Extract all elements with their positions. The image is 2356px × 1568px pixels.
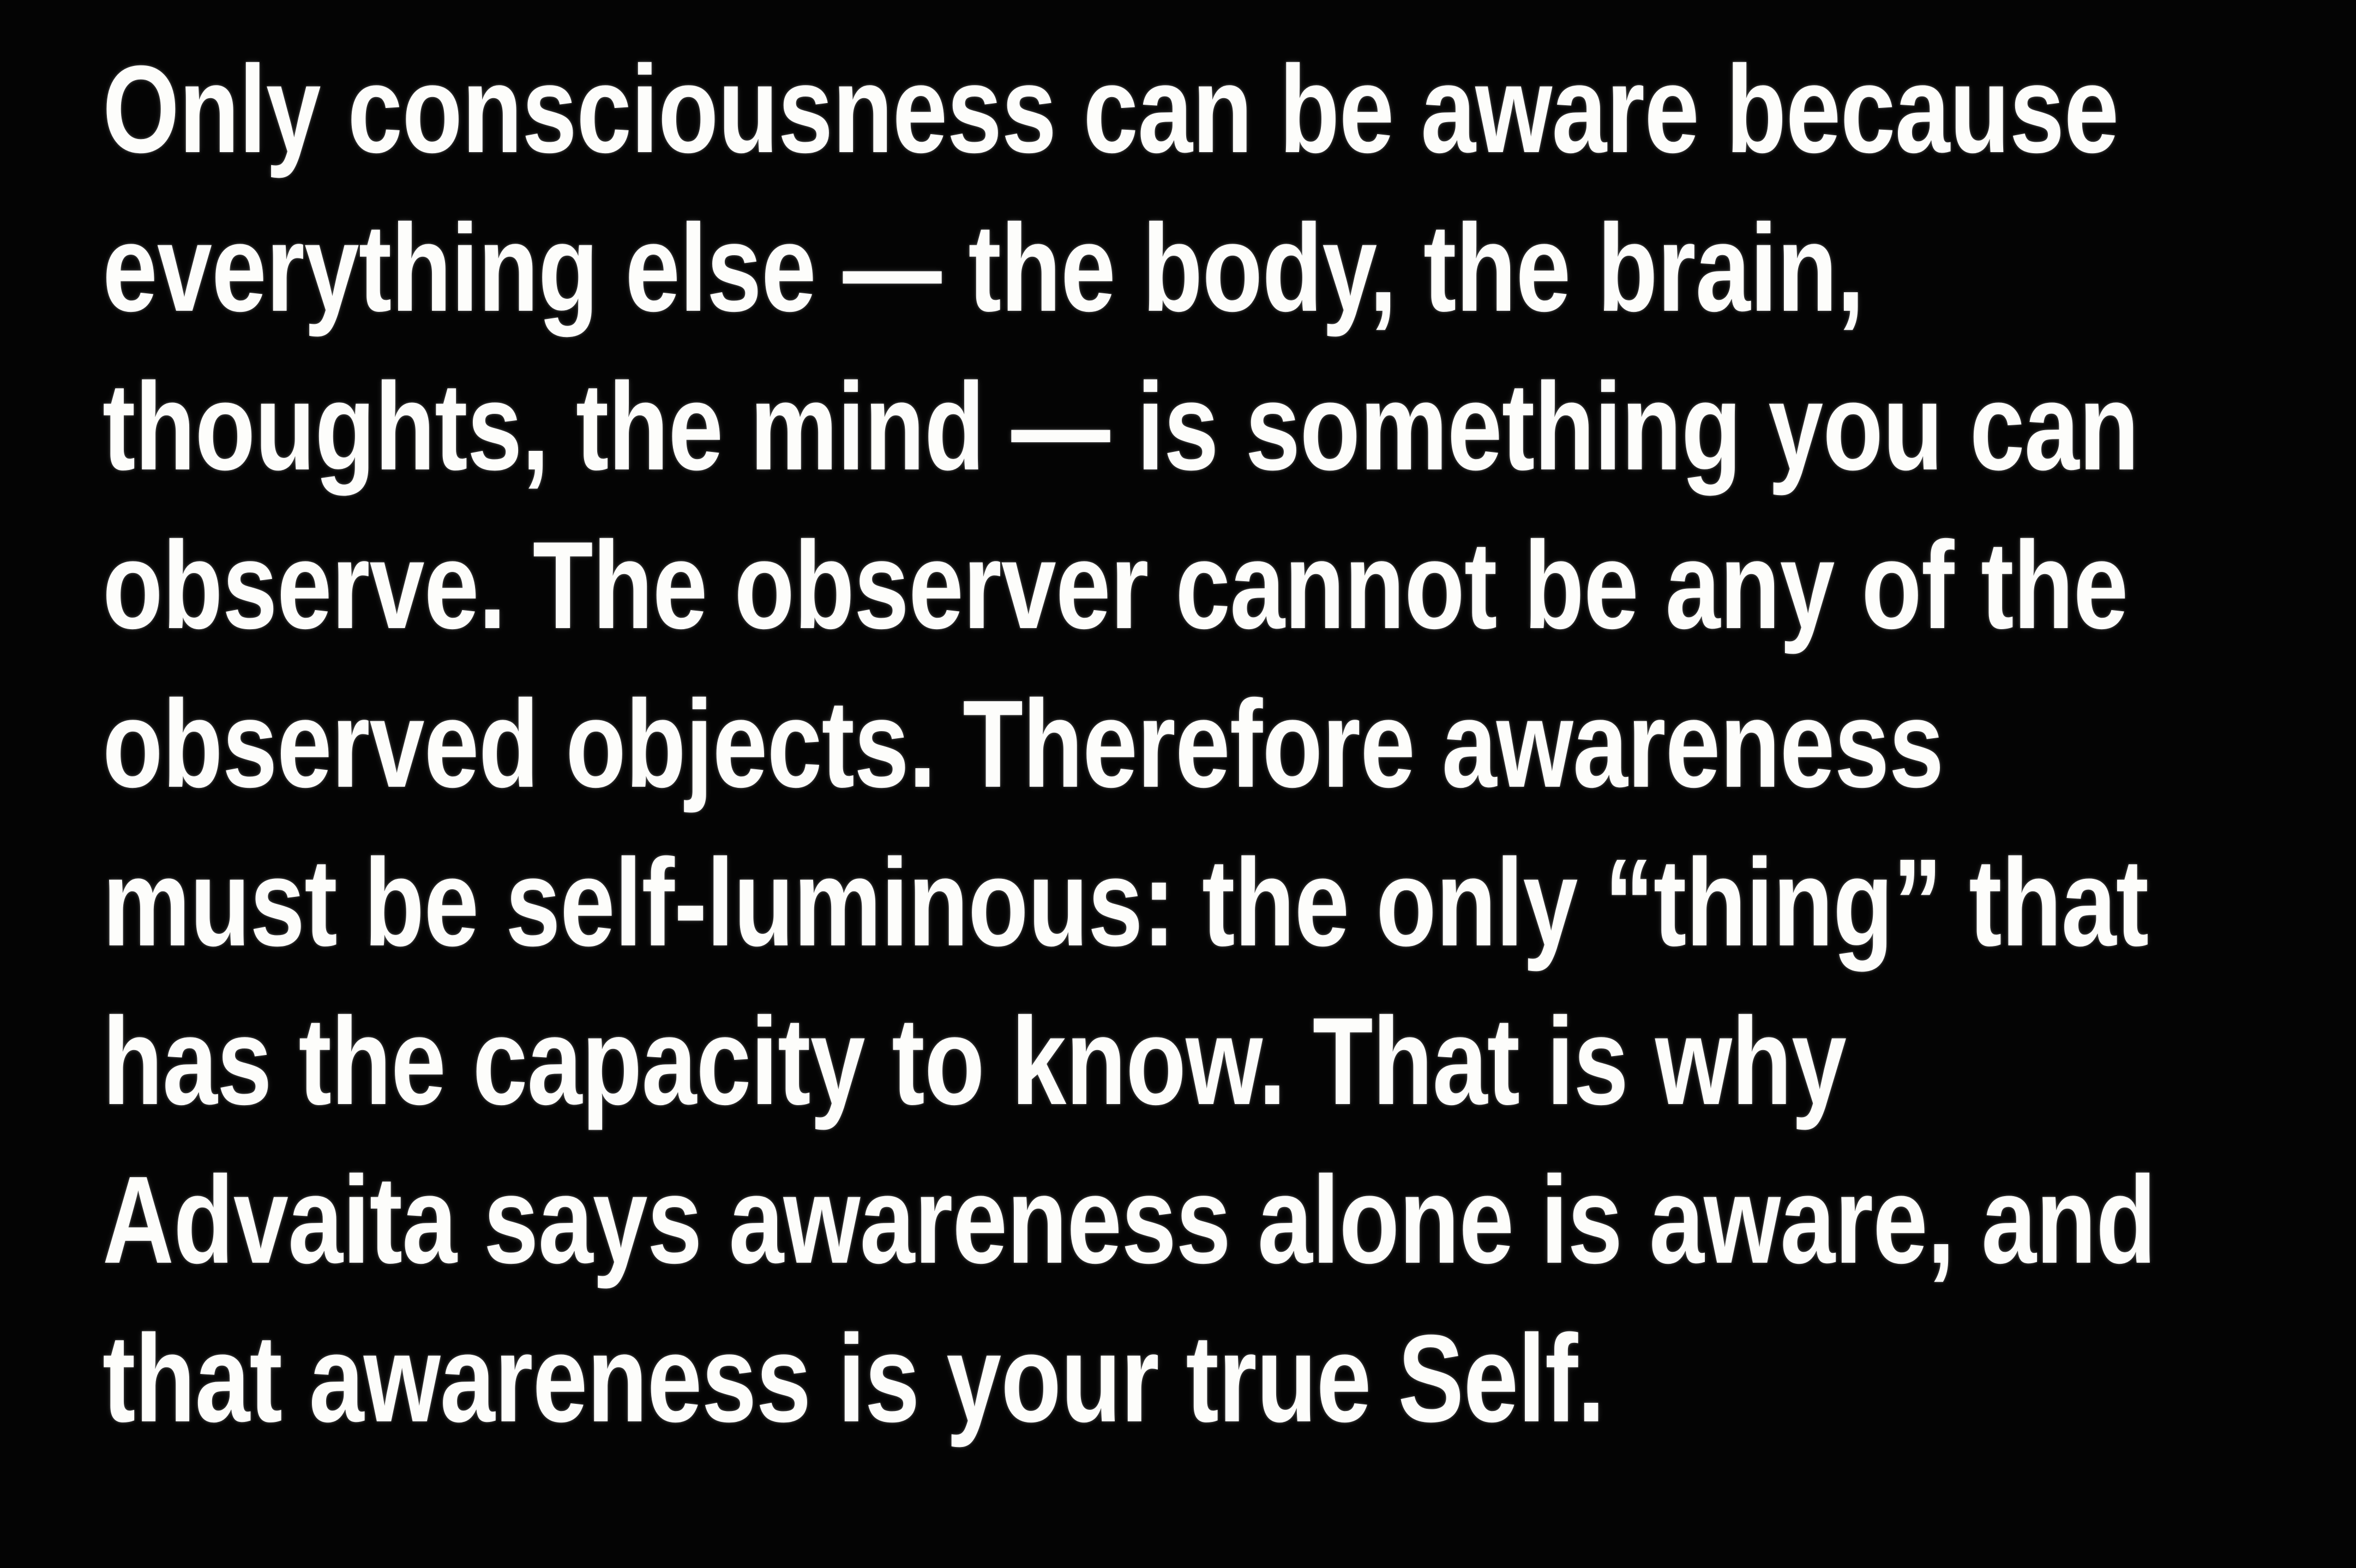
quote-line: Advaita says awareness alone is aware, a… bbox=[103, 1141, 1763, 1300]
quote-line: that awareness is your true Self. bbox=[103, 1300, 1763, 1458]
quote-text-block: Only consciousness can be aware because … bbox=[103, 31, 2191, 1458]
quote-line: thoughts, the mind — is something you ca… bbox=[103, 348, 1763, 506]
quote-line: everything else — the body, the brain, bbox=[103, 189, 1763, 348]
quote-line: observe. The observer cannot be any of t… bbox=[103, 506, 1763, 665]
quote-line: has the capacity to know. That is why bbox=[103, 982, 1763, 1141]
quote-line: observed objects. Therefore awareness bbox=[103, 665, 1763, 824]
quote-line: Only consciousness can be aware because bbox=[103, 31, 1763, 189]
quote-line: must be self-luminous: the only “thing” … bbox=[103, 824, 1763, 982]
quote-card: Only consciousness can be aware because … bbox=[0, 0, 2356, 1568]
